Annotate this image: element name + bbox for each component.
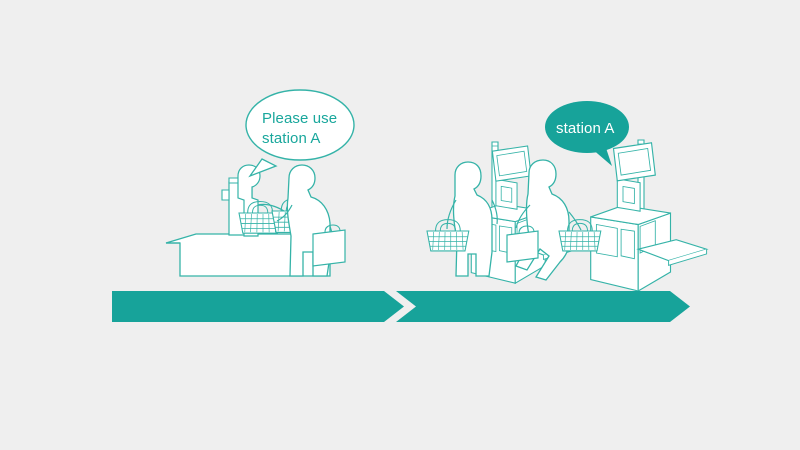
illustration-canvas: Please use station A station A [0, 0, 800, 450]
arrow-segment-2 [396, 291, 690, 322]
staffed-bubble-line1: Please use [262, 110, 337, 127]
checkout-transition-illustration: Please use station A station A [0, 0, 800, 450]
staffed-bubble-line2: station A [262, 130, 320, 147]
arrow-segment-1 [112, 291, 404, 322]
background [0, 0, 800, 450]
self-bubble-line1: station A [556, 120, 614, 137]
